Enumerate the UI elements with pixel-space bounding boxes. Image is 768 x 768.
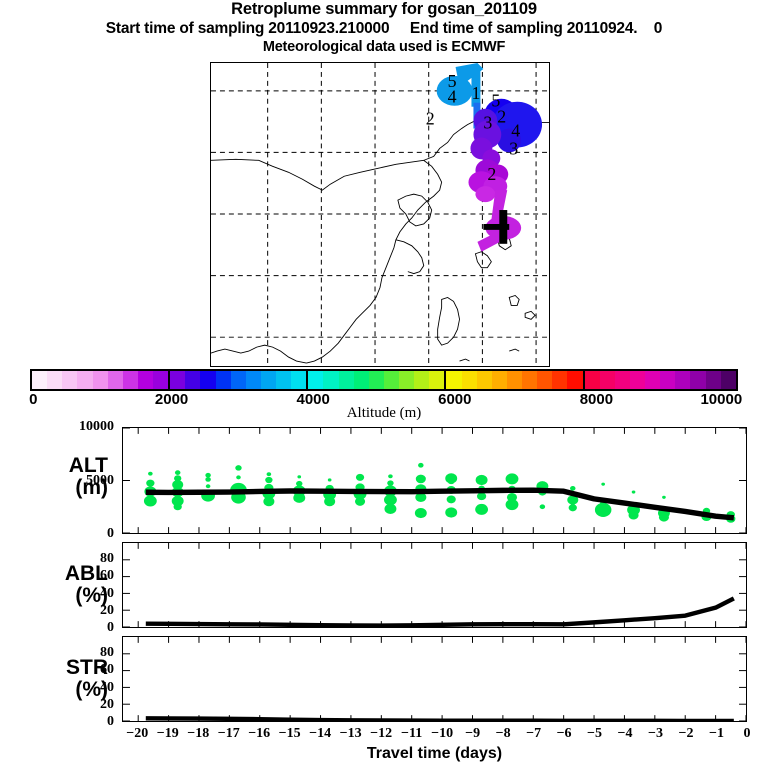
colorbar-segment <box>552 371 567 389</box>
abl-plot-panel[interactable] <box>122 542 747 628</box>
colorbar-segment <box>153 371 168 389</box>
svg-text:2: 2 <box>426 109 435 129</box>
alt-scatter-point <box>662 496 666 499</box>
colorbar-segment <box>645 371 660 389</box>
alt-scatter-point <box>205 477 211 482</box>
alt-scatter-point <box>540 504 546 509</box>
colorbar-segment <box>216 371 231 389</box>
x-tick-label: −8 <box>496 726 511 742</box>
alt-scatter-point <box>595 503 612 517</box>
svg-text:3: 3 <box>509 138 518 158</box>
alt-scatter-point <box>235 465 241 470</box>
colorbar-segment <box>522 371 537 389</box>
x-tick-label: −18 <box>187 726 209 742</box>
colorbar-tick-labels: 0200040006000800010000 <box>30 391 738 406</box>
alt-scatter-point <box>263 497 274 506</box>
colorbar-segment <box>492 371 507 389</box>
colorbar-segment <box>615 371 630 389</box>
alt-scatter-point <box>448 478 455 484</box>
y-tick-label: 0 <box>44 714 114 730</box>
colorbar-segment <box>323 371 338 389</box>
y-tick-label: 40 <box>44 680 114 696</box>
colorbar-segment <box>507 371 522 389</box>
y-tick-label: 80 <box>44 645 114 661</box>
x-tick-label: −1 <box>709 726 724 742</box>
alt-scatter-point <box>476 475 488 485</box>
svg-text:1: 1 <box>471 83 480 103</box>
x-tick-label: −7 <box>526 726 541 742</box>
y-tick-labels: 0500010000020406080020406080 <box>0 0 122 768</box>
alt-scatter-point <box>324 497 335 506</box>
colorbar-segment <box>399 371 414 389</box>
alt-scatter-point <box>267 472 272 476</box>
x-tick-label: −12 <box>370 726 392 742</box>
x-axis-tick-labels: −20−19−18−17−16−15−14−13−12−11−10−9−8−7−… <box>122 726 747 742</box>
alt-scatter-point <box>175 470 181 475</box>
alt-scatter-point <box>629 511 639 520</box>
x-tick-label: −10 <box>431 726 453 742</box>
colorbar-segment <box>276 371 291 389</box>
colorbar-segment <box>721 371 736 389</box>
colorbar-segment <box>477 371 492 389</box>
alt-scatter-point <box>265 477 272 483</box>
colorbar-segment <box>384 371 399 389</box>
y-tick-label: 20 <box>44 603 114 619</box>
map-canvas: 5 4 1 5 2 3 2 4 3 2 <box>211 63 549 366</box>
colorbar-segment <box>429 371 444 389</box>
colorbar-segment <box>585 371 600 389</box>
alt-scatter-point <box>418 463 424 468</box>
x-tick-label: −16 <box>248 726 270 742</box>
altitude-colorbar: 0200040006000800010000 Altitude (m) <box>30 369 738 422</box>
alt-scatter-point <box>416 475 426 484</box>
alt-scatter-point <box>236 475 241 479</box>
y-tick-label: 60 <box>44 568 114 584</box>
alt-scatter-point <box>506 473 519 484</box>
colorbar-segment <box>231 371 246 389</box>
svg-text:2: 2 <box>497 107 506 127</box>
x-tick-label: −14 <box>309 726 331 742</box>
x-tick-label: −9 <box>465 726 480 742</box>
y-tick-label: 20 <box>44 697 114 713</box>
x-tick-label: −19 <box>157 726 179 742</box>
colorbar-segment <box>308 371 323 389</box>
colorbar-segment <box>630 371 645 389</box>
y-tick-label: 5000 <box>44 473 114 489</box>
alt-scatter-point <box>297 475 301 478</box>
alt-plot-panel[interactable] <box>122 427 747 534</box>
colorbar-segment <box>138 371 153 389</box>
x-tick-label: −20 <box>126 726 148 742</box>
x-tick-label: −15 <box>279 726 301 742</box>
alt-scatter-point <box>148 472 153 476</box>
colorbar-segment <box>537 371 552 389</box>
colorbar-segment <box>567 371 582 389</box>
alt-scatter-point <box>601 483 605 486</box>
x-tick-label: −5 <box>587 726 602 742</box>
y-tick-label: 60 <box>44 662 114 678</box>
colorbar-segment <box>706 371 721 389</box>
alt-scatter-point <box>144 495 157 506</box>
colorbar-segment <box>660 371 675 389</box>
retroplume-map[interactable]: 5 4 1 5 2 3 2 4 3 2 <box>210 62 550 367</box>
alt-plot-canvas <box>123 428 746 533</box>
alt-scatter-point <box>445 507 457 517</box>
y-tick-label: 10000 <box>44 419 114 435</box>
alt-scatter-point <box>174 503 182 510</box>
colorbar-segment <box>414 371 429 389</box>
alt-scatter-point <box>293 493 305 503</box>
colorbar-strip <box>30 369 738 391</box>
y-tick-label: 0 <box>44 620 114 636</box>
alt-scatter-point <box>447 495 456 503</box>
colorbar-segment <box>600 371 615 389</box>
str-plot-canvas <box>123 637 746 721</box>
colorbar-segment <box>339 371 354 389</box>
alt-scatter-point <box>475 504 488 515</box>
x-tick-label: −13 <box>340 726 362 742</box>
alt-scatter-point <box>477 492 486 500</box>
svg-text:3: 3 <box>483 113 492 133</box>
colorbar-segment <box>446 371 461 389</box>
colorbar-segment <box>246 371 261 389</box>
colorbar-segment <box>291 371 306 389</box>
x-tick-label: 0 <box>744 726 751 742</box>
alt-scatter-point <box>415 508 427 518</box>
alt-scatter-point <box>388 474 393 478</box>
colorbar-segment <box>354 371 369 389</box>
alt-scatter-point <box>387 480 393 485</box>
colorbar-segment <box>690 371 705 389</box>
alt-scatter-point <box>659 513 669 522</box>
alt-scatter-point <box>355 497 365 506</box>
alt-scatter-point <box>569 504 577 511</box>
colorbar-segment <box>200 371 215 389</box>
colorbar-segment <box>170 371 185 389</box>
colorbar-segment <box>185 371 200 389</box>
alt-trend-line <box>146 490 734 518</box>
abl-line <box>146 598 734 625</box>
alt-scatter-point <box>356 474 364 481</box>
y-tick-label: 80 <box>44 551 114 567</box>
x-tick-label: −4 <box>618 726 633 742</box>
x-tick-label: −11 <box>401 726 422 742</box>
alt-scatter-point <box>570 486 576 491</box>
colorbar-segment <box>369 371 384 389</box>
colorbar-axis-label: Altitude (m) <box>30 405 738 422</box>
x-tick-label: −17 <box>218 726 240 742</box>
colorbar-segment <box>261 371 276 389</box>
svg-text:4: 4 <box>448 87 457 107</box>
alt-scatter-point <box>206 484 211 488</box>
alt-scatter-point <box>205 473 211 478</box>
alt-scatter-point <box>384 504 396 514</box>
alt-scatter-point <box>632 490 636 493</box>
svg-text:2: 2 <box>487 164 496 184</box>
colorbar-segment <box>462 371 477 389</box>
alt-scatter-point <box>328 478 332 481</box>
x-tick-label: −6 <box>557 726 572 742</box>
x-axis-title: Travel time (days) <box>122 745 747 763</box>
y-tick-label: 0 <box>44 526 114 542</box>
str-line <box>146 718 734 721</box>
str-plot-panel[interactable] <box>122 636 747 722</box>
x-tick-label: −2 <box>679 726 694 742</box>
colorbar-segment <box>123 371 138 389</box>
alt-scatter-point <box>146 480 154 487</box>
abl-plot-canvas <box>123 543 746 627</box>
y-tick-label: 40 <box>44 586 114 602</box>
colorbar-segment <box>675 371 690 389</box>
alt-scatter-point <box>506 499 519 510</box>
x-tick-label: −3 <box>648 726 663 742</box>
